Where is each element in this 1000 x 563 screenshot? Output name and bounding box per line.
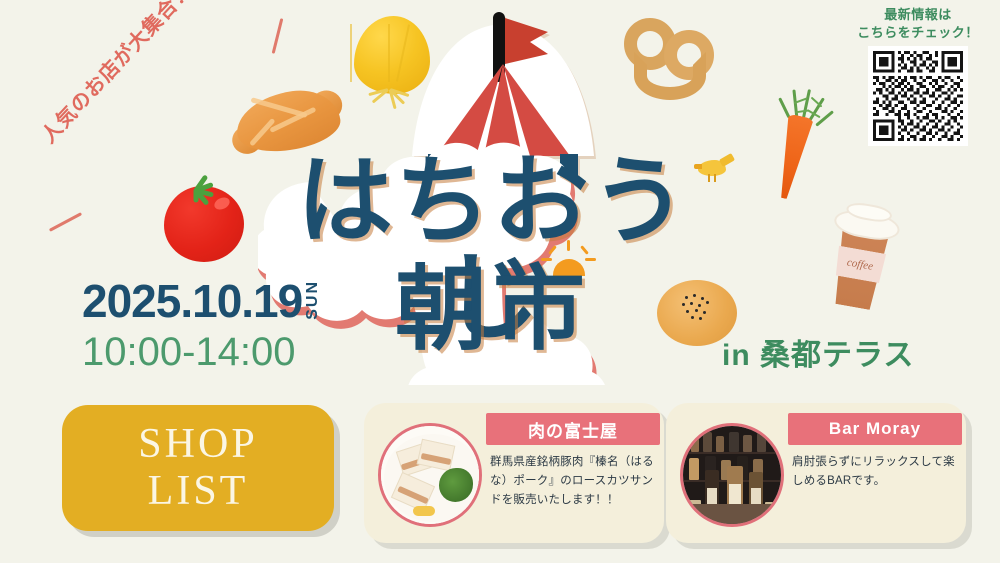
shop-list-button[interactable]: SHOP LIST — [62, 405, 334, 531]
event-venue: in 桑都テラス — [722, 330, 914, 374]
bar-bottles-photo — [680, 423, 784, 527]
catch-copy-accent-line — [49, 212, 82, 232]
title-line-2: 朝市 — [258, 264, 728, 356]
shop-list-label-line1: SHOP — [138, 421, 257, 468]
catch-copy-accent-line — [272, 18, 284, 54]
qr-code[interactable] — [868, 46, 968, 146]
event-time: 10:00-14:00 — [82, 332, 322, 372]
event-day-of-week: SUN — [304, 280, 322, 320]
shop-description: 群馬県産銘柄豚肉『榛名（はるな）ポーク』のロースカツサンドを販売いたします！！ — [490, 453, 654, 510]
shop-name: Bar Moray — [829, 419, 921, 439]
shop-card[interactable]: Bar Moray 肩肘張らずにリラックスして楽しめるBARです。 — [666, 403, 966, 543]
page-title: はちおうじ 朝市 — [258, 140, 728, 385]
shop-card[interactable]: 肉の富士屋 群馬県産銘柄豚肉『榛名（はるな）ポーク』のロースカツサンドを販売いた… — [364, 403, 664, 543]
catch-copy-text: 人気のお店が大集合！ — [33, 0, 197, 148]
coffee-cup-label: coffee — [832, 245, 888, 284]
katsu-sandwich-photo — [378, 423, 482, 527]
shop-name-banner: Bar Moray — [788, 413, 962, 445]
qr-block: 最新情報は こちらをチェック！ — [850, 6, 986, 146]
coffee-cup-illustration: coffee — [810, 191, 916, 326]
carrot-illustration — [745, 81, 849, 212]
event-date-block: 2025.10.19 SUN 10:00-14:00 — [82, 278, 322, 372]
shop-name-banner: 肉の富士屋 — [486, 413, 660, 445]
shop-name: 肉の富士屋 — [528, 417, 618, 442]
catch-copy: 人気のお店が大集合！ — [50, 38, 290, 238]
shop-description: 肩肘張らずにリラックスして楽しめるBARです。 — [792, 453, 956, 491]
shop-list-label-line2: LIST — [148, 468, 249, 515]
qr-caption-line2: こちらをチェック！ — [850, 24, 986, 42]
poster-canvas: coffee 人気のお店が大集合！ 最新情報は こちらをチェック！ — [0, 0, 1000, 563]
qr-caption-line1: 最新情報は — [850, 6, 986, 24]
event-date: 2025.10.19 — [82, 278, 302, 324]
pretzel-illustration — [620, 8, 724, 108]
